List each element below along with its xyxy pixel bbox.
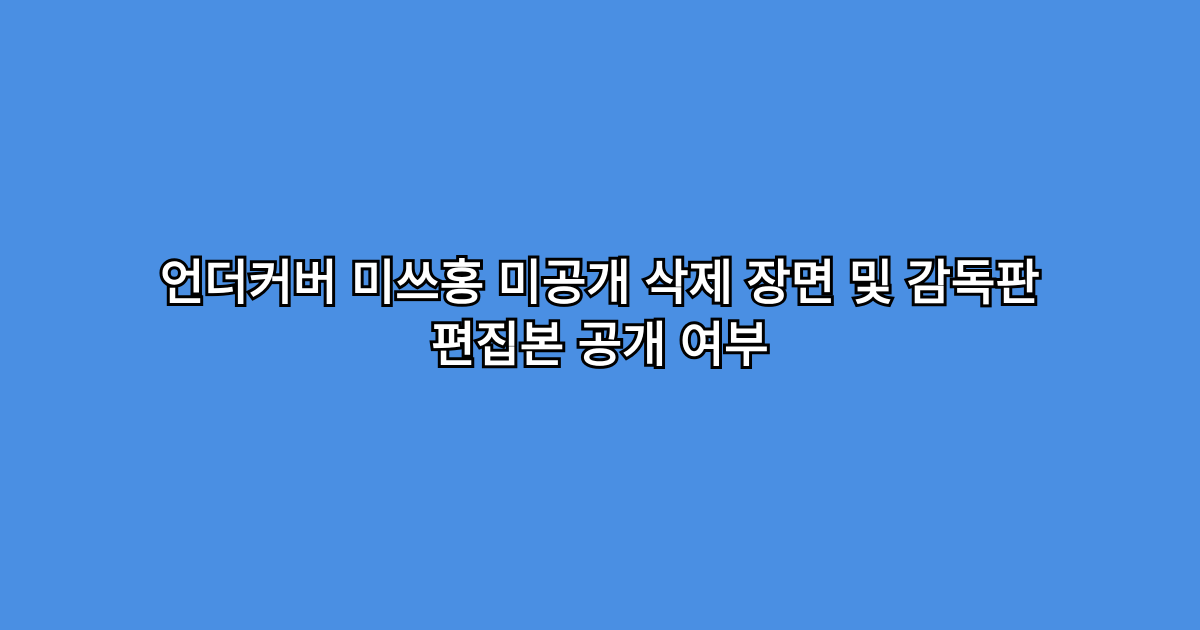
headline-block: 언더커버 미쓰홍 미공개 삭제 장면 및 감독판 편집본 공개 여부 [100, 253, 1100, 377]
page-title: 언더커버 미쓰홍 미공개 삭제 장면 및 감독판 편집본 공개 여부 [120, 253, 1080, 377]
headline-line-2: 편집본 공개 여부 [120, 315, 1080, 377]
headline-line-1: 언더커버 미쓰홍 미공개 삭제 장면 및 감독판 [120, 253, 1080, 315]
social-share-card: 언더커버 미쓰홍 미공개 삭제 장면 및 감독판 편집본 공개 여부 [0, 0, 1200, 630]
